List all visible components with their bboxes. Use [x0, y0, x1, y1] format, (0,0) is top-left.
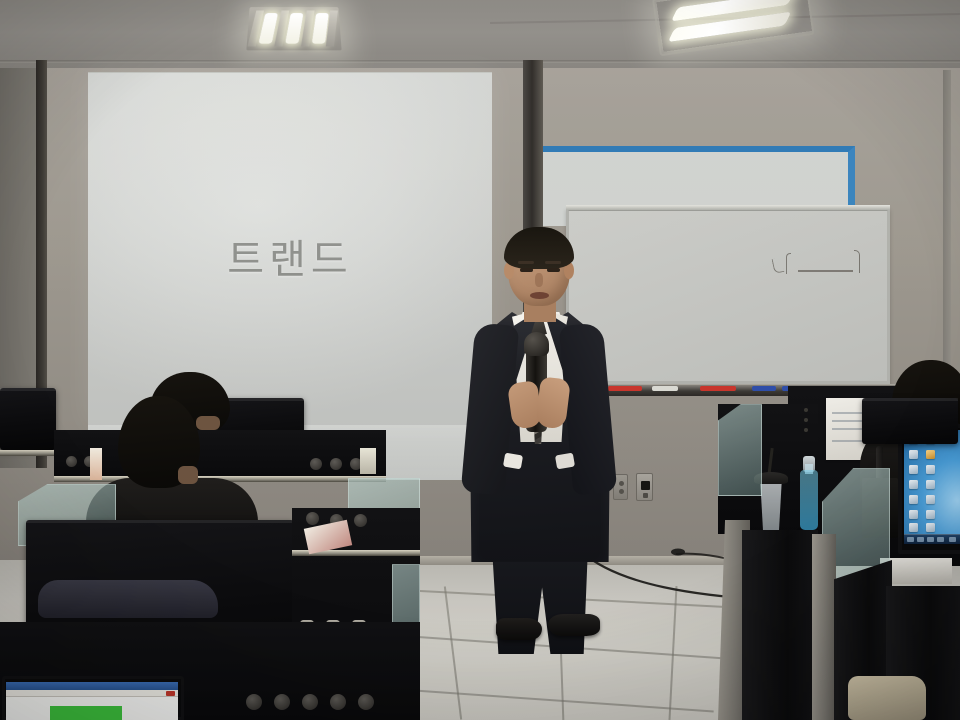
pc-tower [742, 530, 818, 720]
desk-grommet [246, 694, 262, 710]
desk-grommet [310, 458, 322, 470]
presenter-mouth [530, 292, 549, 299]
desk-grommet [330, 458, 342, 470]
desk-panel [54, 430, 386, 482]
desk-grommet [66, 456, 77, 467]
desk-grommet [354, 514, 367, 527]
left-workstation-cluster [0, 372, 420, 720]
chair-back [38, 580, 218, 618]
presenter-eyebrow-right [545, 261, 561, 264]
laptop-screen-content [6, 682, 178, 720]
presenter-eyebrow-left [518, 261, 534, 264]
attendee-neck [196, 416, 220, 430]
water-bottle [800, 470, 818, 530]
ceiling-seam [0, 60, 960, 63]
presenter-shoe-right [548, 614, 600, 636]
ceiling-light-fixture-left [246, 7, 341, 50]
monitor-back [862, 398, 958, 444]
presenter-hair [504, 227, 574, 269]
presenter-shoe-left [496, 618, 542, 640]
monitor-screen-windows-desktop[interactable] [904, 430, 960, 544]
presenter-eye-left [520, 268, 533, 272]
tower-vent [804, 418, 808, 422]
close-icon[interactable] [166, 691, 175, 696]
slide-title-text: 트랜드 [88, 227, 492, 285]
browser-titlebar [6, 682, 178, 690]
desk-grommet [330, 694, 346, 710]
photo-scene: 트랜드 [0, 0, 960, 720]
desk-glass-partition [718, 404, 762, 496]
presenter-eye-right [547, 268, 560, 272]
desk-grommet [274, 694, 290, 710]
paper-booklet [90, 448, 102, 480]
windows-taskbar[interactable] [904, 534, 960, 544]
presenter-nose [535, 273, 543, 287]
tower-vent [804, 408, 808, 412]
monitor-back [0, 388, 56, 450]
paper-booklet [360, 448, 376, 474]
whiteboard-handwriting-line [798, 270, 853, 272]
presenter-cuff-left [503, 453, 523, 470]
av-jack-plate [636, 473, 653, 501]
desk-pedestal [812, 534, 836, 720]
bag-on-floor [848, 676, 926, 720]
whiteboard-top-edge [566, 205, 890, 210]
desk-grommet [306, 512, 319, 525]
desk-grommet [302, 694, 318, 710]
tower-vent [804, 428, 808, 432]
browser-toolbar [6, 690, 178, 697]
highlighted-block [50, 706, 122, 720]
presenter [464, 232, 614, 642]
microphone-head [524, 332, 549, 356]
whiteboard [566, 208, 890, 384]
whiteboard-handwriting-mark [786, 253, 791, 274]
desk-grommet [358, 694, 374, 710]
attendee-neck [178, 466, 198, 484]
marker-white [652, 386, 678, 391]
whiteboard-handwriting-mark [854, 250, 860, 273]
